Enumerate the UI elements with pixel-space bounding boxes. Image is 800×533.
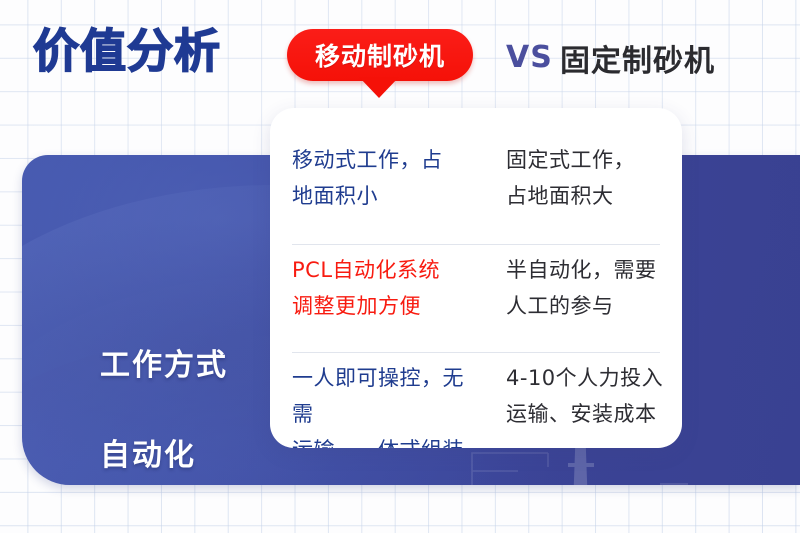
badge-bubble: 移动制砂机 [287,29,473,81]
column-mobile: 移动式工作，占 地面积小 PCL自动化系统 调整更加方便 一人即可操控，无需 运… [270,108,482,448]
cell-fixed-investment-cost: 4-10个人力投入 运输、安装成本 [506,360,682,432]
row-label-automation: 自动化 [100,430,196,474]
cell-mobile-work-mode: 移动式工作，占 地面积小 [292,142,476,214]
badge-label: 移动制砂机 [287,29,473,81]
mobile-machine-badge: 移动制砂机 [287,29,477,99]
comparison-card: 移动式工作，占 地面积小 PCL自动化系统 调整更加方便 一人即可操控，无需 运… [270,108,682,448]
cell-mobile-automation: PCL自动化系统 调整更加方便 [292,252,476,324]
page-title: 价值分析 [33,25,221,77]
badge-pointer-icon [359,77,399,98]
cell-mobile-investment-cost: 一人即可操控，无需 运输，一体式组装 [292,360,476,448]
fixed-machine-title: 固定制砂机 [560,36,715,80]
infographic-canvas: 价值分析 移动制砂机 VS 固定制砂机 [0,0,800,533]
row-label-work-mode: 工作方式 [100,340,228,384]
column-fixed: 固定式工作， 占地面积大 半自动化，需要 人工的参与 4-10个人力投入 运输、… [482,108,682,448]
cell-fixed-work-mode: 固定式工作， 占地面积大 [506,142,682,214]
vs-label: VS [506,40,553,75]
cell-fixed-automation: 半自动化，需要 人工的参与 [506,252,682,324]
header: 价值分析 移动制砂机 VS 固定制砂机 [0,0,800,108]
